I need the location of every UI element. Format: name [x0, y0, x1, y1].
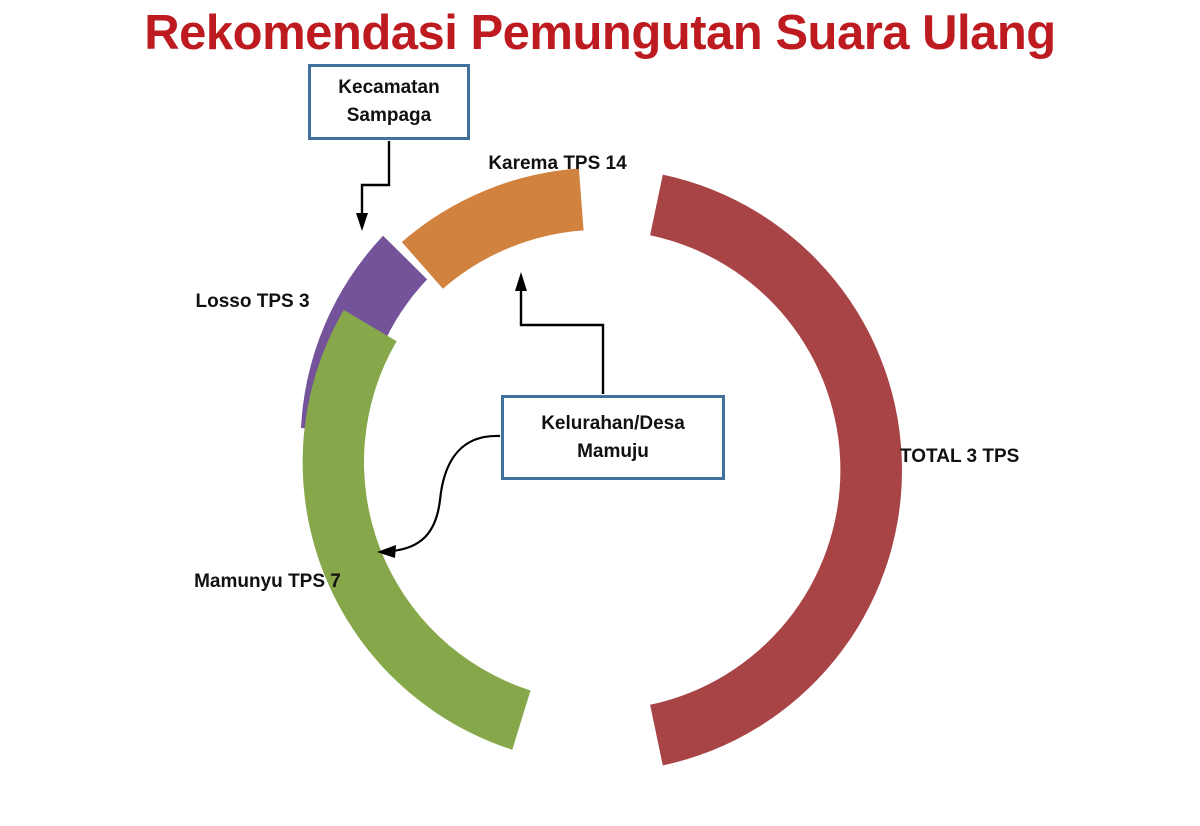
arc-label-karema: Karema TPS 14 [470, 150, 645, 178]
textbox-kecamatan-line1: Kecamatan [338, 74, 439, 102]
textbox-kecamatan-sampaga[interactable]: Kecamatan Sampaga [308, 64, 470, 140]
arc-segment-karema [402, 169, 584, 289]
arc-label-total-line1: TOTAL [900, 446, 961, 467]
arc-label-karema-line1: Karema [488, 153, 558, 174]
arc-segment-mamunyu [303, 310, 531, 750]
textbox-kelurahan-line2: Mamuju [541, 438, 685, 466]
connector-kelurahan-to-karema [515, 272, 603, 394]
arc-label-mamunyu-line1: Mamunyu [194, 571, 283, 592]
textbox-kecamatan-line2: Sampaga [338, 102, 439, 130]
textbox-kelurahan-line1: Kelurahan/Desa [541, 410, 685, 438]
arc-label-total-line2: 3 TPS [967, 446, 1020, 467]
arc-label-total: TOTAL 3 TPS [900, 443, 1060, 471]
slide-canvas: Rekomendasi Pemungutan Suara Ulang Karem… [0, 0, 1200, 826]
arc-label-losso: Losso TPS 3 [160, 288, 345, 316]
arc-label-mamunyu: Mamunyu TPS 7 [175, 568, 360, 596]
connector-kecamatan-to-losso [356, 141, 389, 231]
arc-label-karema-line2: TPS 14 [563, 153, 626, 174]
textbox-kelurahan-desa-mamuju[interactable]: Kelurahan/Desa Mamuju [501, 395, 725, 480]
connector-kelurahan-to-mamunyu [377, 436, 500, 558]
arc-label-mamunyu-line2: TPS 7 [288, 571, 341, 592]
arc-label-losso-line1: Losso TPS 3 [195, 291, 309, 312]
